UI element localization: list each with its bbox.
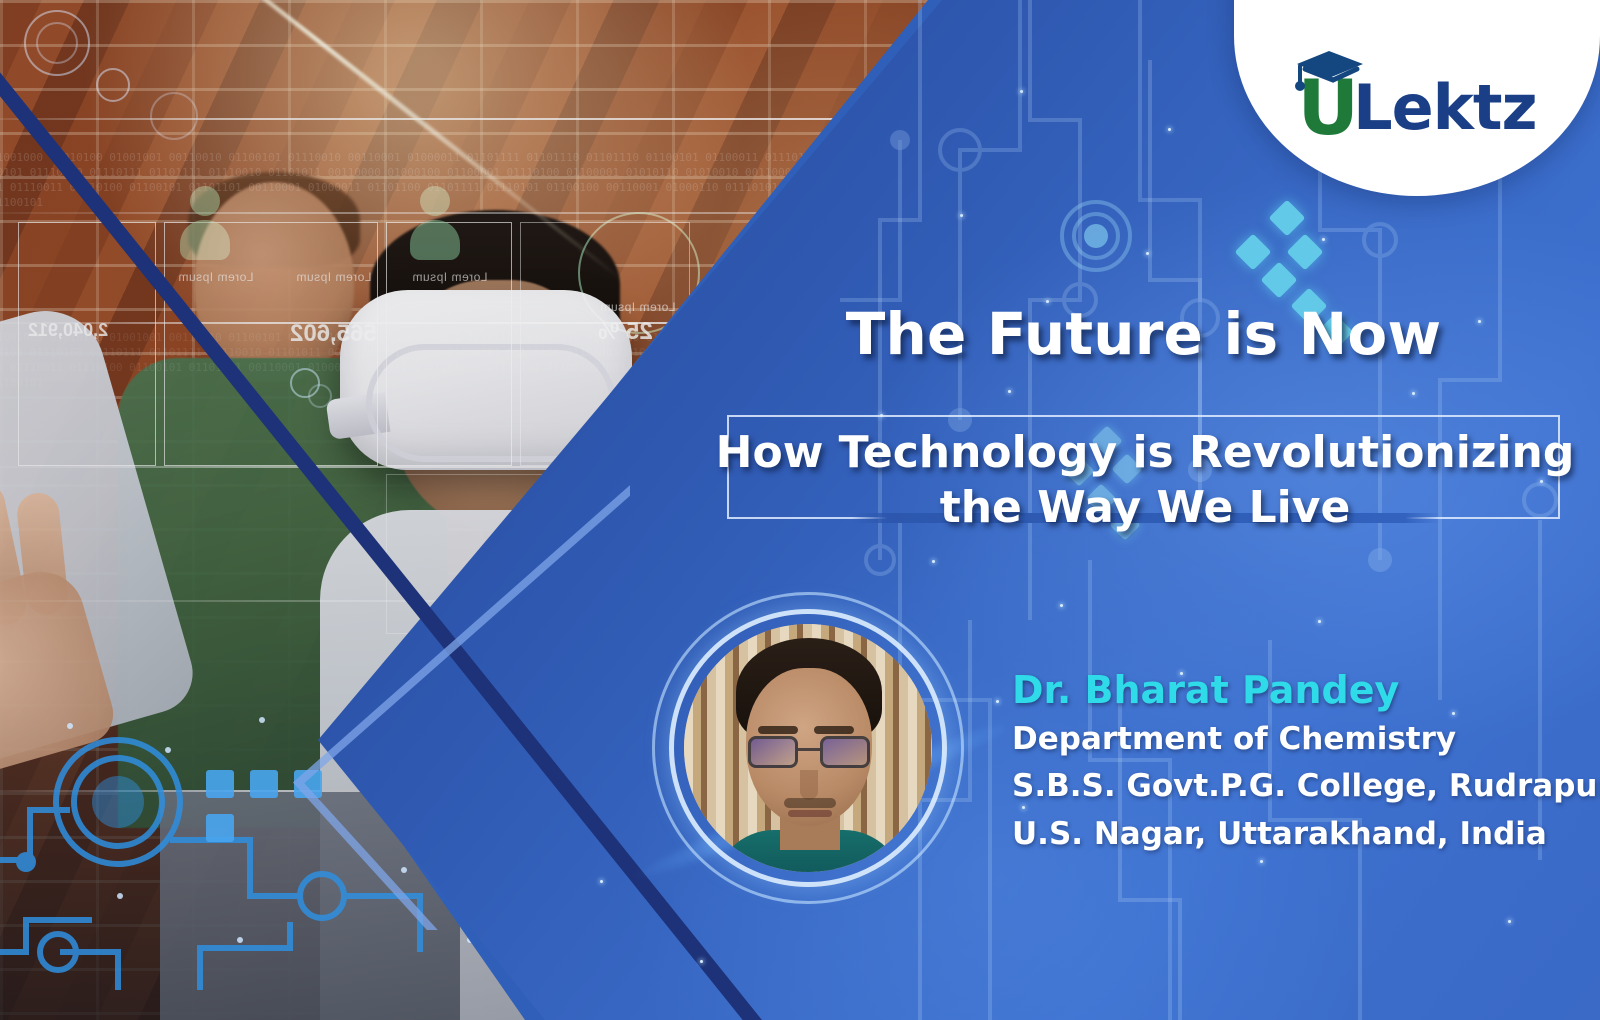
page-title: The Future is Now [727,300,1560,368]
eyeglasses-icon [748,736,870,770]
graduation-cap-icon [1293,48,1367,92]
speaker-name: Dr. Bharat Pandey [1012,665,1572,716]
speaker-department: Department of Chemistry [1012,716,1572,763]
speaker-portrait [684,624,932,872]
webinar-poster: 01001000 01010100 01001001 00110010 0110… [0,0,1600,1020]
subtitle-line-1: How Technology is Revolutionizing [700,425,1590,480]
speaker-institution: S.B.S. Govt.P.G. College, Rudrapur [1012,763,1572,810]
speaker-details: Dr. Bharat Pandey Department of Chemistr… [1012,665,1572,858]
speaker-location: U.S. Nagar, Uttarakhand, India [1012,811,1572,858]
logo-text-lektz: Lektz [1353,80,1537,136]
logo-wordmark: U Lektz [1297,74,1536,142]
subtitle-line-2: the Way We Live [700,480,1590,535]
radar-target-icon [1060,200,1132,272]
subtitle: How Technology is Revolutionizing the Wa… [700,425,1590,535]
